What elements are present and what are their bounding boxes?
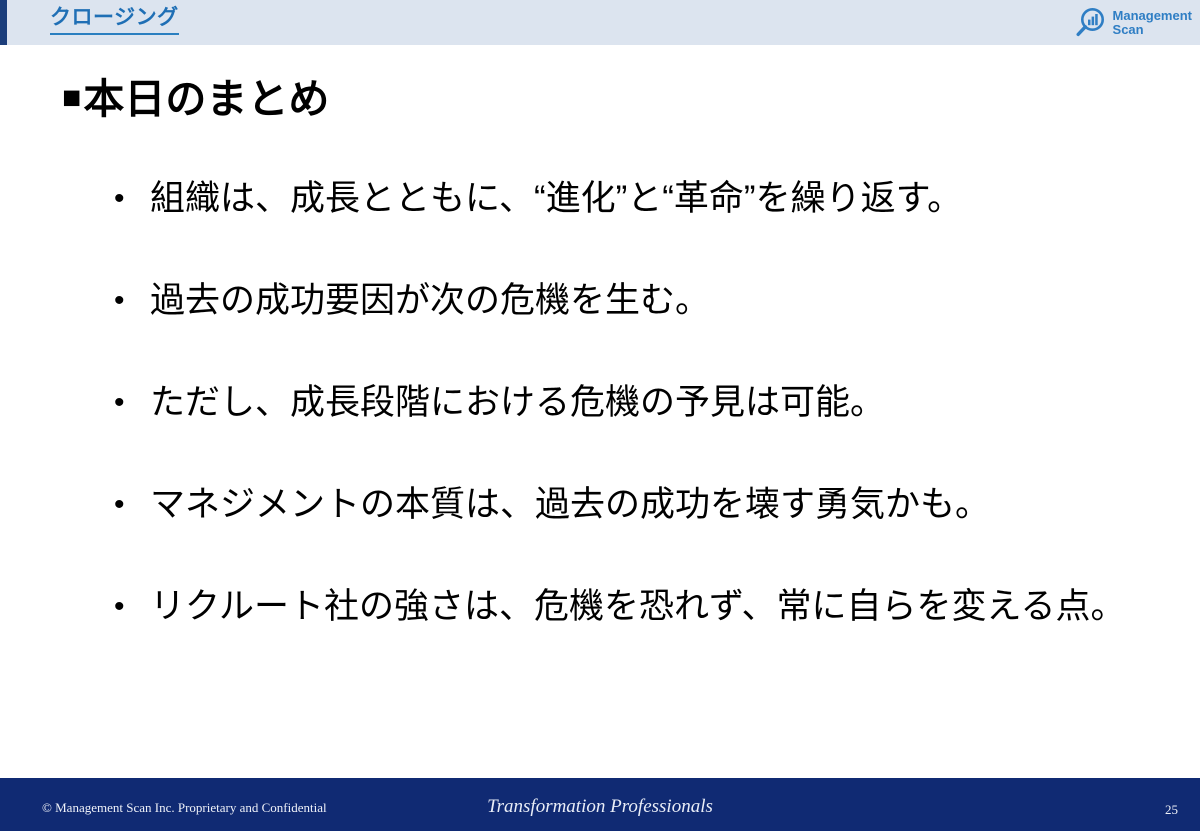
slide-footer: © Management Scan Inc. Proprietary and C… [0,778,1200,831]
header-accent-bar [0,0,7,45]
brand-logo-line2: Scan [1113,23,1192,37]
bullet-marker-icon: • [114,176,125,222]
list-item: • リクルート社の強さは、危機を恐れず、常に自らを変える点。 [108,584,1178,686]
heading-square-marker: ■ [62,79,81,115]
footer-tagline: Transformation Professionals [0,796,1200,818]
page-title-text: 本日のまとめ [83,76,329,122]
list-item-text: 組織は、成長とともに、“進化”と“革命”を繰り返す。 [150,179,962,218]
list-item: • 組織は、成長とともに、“進化”と“革命”を繰り返す。 [108,176,1178,278]
section-label: クロージング [50,5,179,35]
bullet-marker-icon: • [114,584,125,630]
list-item: • ただし、成長段階における危機の予見は可能。 [108,380,1178,482]
list-item-text: ただし、成長段階における危機の予見は可能。 [150,383,885,422]
list-item-text: 過去の成功要因が次の危機を生む。 [150,281,710,320]
list-item: • マネジメントの本質は、過去の成功を壊す勇気かも。 [108,482,1178,584]
page-number: 25 [1165,802,1178,818]
list-item: • 過去の成功要因が次の危機を生む。 [108,278,1178,380]
brand-logo-text: Management Scan [1113,9,1192,37]
bullet-marker-icon: • [114,380,125,426]
slide-header: クロージング Management Scan [0,0,1200,45]
list-item-text: マネジメントの本質は、過去の成功を壊す勇気かも。 [150,485,990,524]
list-item-text: リクルート社の強さは、危機を恐れず、常に自らを変える点。 [150,587,1125,626]
summary-bullet-list: • 組織は、成長とともに、“進化”と“革命”を繰り返す。 • 過去の成功要因が次… [108,176,1178,686]
brand-logo-line1: Management [1113,9,1192,23]
page-title: ■本日のまとめ [62,72,329,124]
bullet-marker-icon: • [114,482,125,528]
bullet-marker-icon: • [114,278,125,324]
brand-logo: Management Scan [1073,3,1192,43]
magnifier-bar-chart-icon [1073,6,1107,40]
slide: クロージング Management Scan ■本日のまとめ • 組織は、成長と… [0,0,1200,831]
